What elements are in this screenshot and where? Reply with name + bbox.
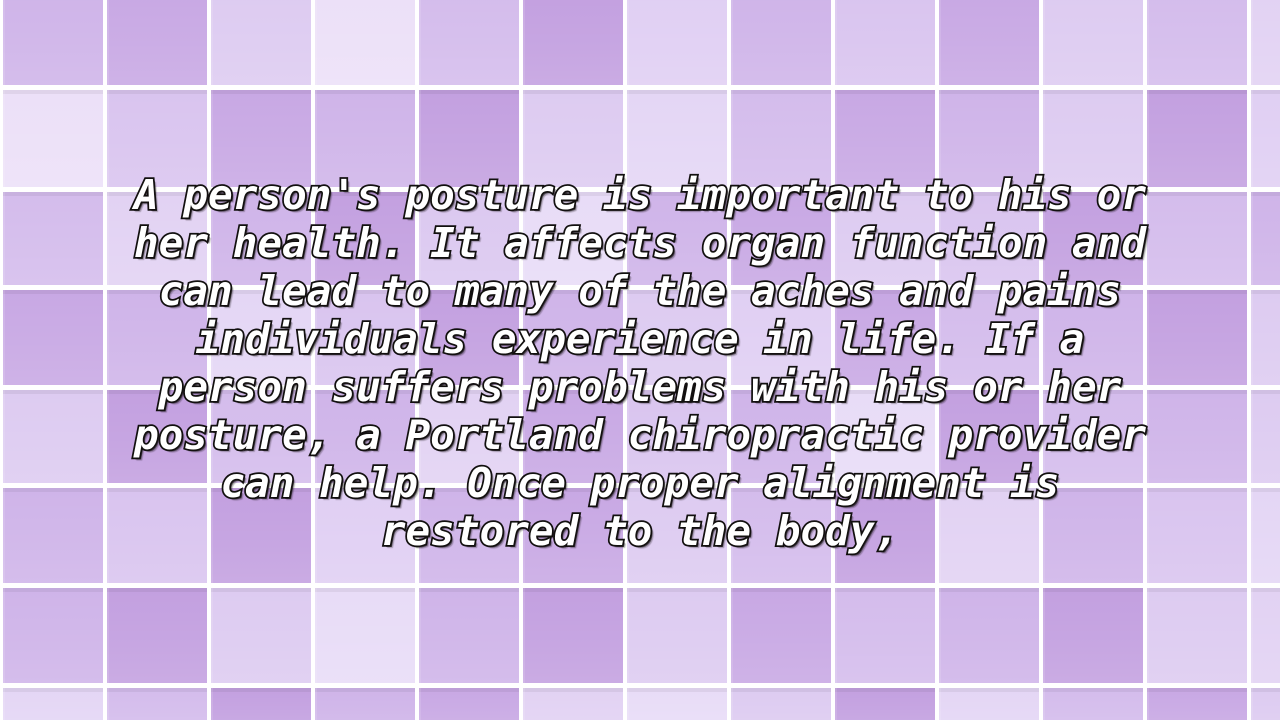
tile-gradient xyxy=(1251,588,1280,683)
tile-top-shade xyxy=(523,588,623,592)
tile-left-highlight xyxy=(1043,488,1045,583)
tile-left-highlight xyxy=(835,488,837,583)
mosaic-tile xyxy=(107,688,207,720)
tile-top-shade xyxy=(939,192,1039,196)
tile-left-highlight xyxy=(731,488,733,583)
mosaic-tile xyxy=(1251,0,1280,85)
tile-left-highlight xyxy=(835,90,837,187)
mosaic-tile xyxy=(731,488,831,583)
tile-left-highlight xyxy=(731,688,733,720)
tile-top-shade xyxy=(835,390,935,394)
tile-top-shade xyxy=(211,588,311,592)
tile-gradient xyxy=(1043,390,1143,483)
tile-gradient xyxy=(523,90,623,187)
mosaic-tile xyxy=(835,488,935,583)
tile-gradient xyxy=(523,688,623,720)
tile-gradient xyxy=(731,290,831,385)
tile-top-shade xyxy=(419,588,519,592)
mosaic-tile xyxy=(419,588,519,683)
tile-left-highlight xyxy=(627,192,629,285)
tile-left-highlight xyxy=(1251,390,1253,483)
tile-top-shade xyxy=(731,192,831,196)
tile-gradient xyxy=(1043,588,1143,683)
tile-left-highlight xyxy=(3,290,5,385)
tile-left-highlight xyxy=(627,588,629,683)
tile-gradient xyxy=(731,90,831,187)
tile-gradient xyxy=(107,192,207,285)
tile-top-shade xyxy=(523,192,623,196)
mosaic-tile xyxy=(1043,488,1143,583)
tile-gradient xyxy=(419,390,519,483)
tile-top-shade xyxy=(1043,688,1143,692)
tile-gradient xyxy=(211,290,311,385)
mosaic-tile xyxy=(3,488,103,583)
tile-gradient xyxy=(107,90,207,187)
tile-gradient xyxy=(211,192,311,285)
tile-left-highlight xyxy=(1043,192,1045,285)
tile-left-highlight xyxy=(1147,290,1149,385)
tile-top-shade xyxy=(1043,488,1143,492)
mosaic-tile xyxy=(107,390,207,483)
tile-left-highlight xyxy=(1043,390,1045,483)
tile-top-shade xyxy=(627,390,727,394)
mosaic-tile xyxy=(107,0,207,85)
tile-left-highlight xyxy=(523,688,525,720)
tile-gradient xyxy=(107,390,207,483)
mosaic-tile xyxy=(835,688,935,720)
mosaic-tile xyxy=(835,290,935,385)
tile-gradient xyxy=(939,390,1039,483)
mosaic-tile xyxy=(731,90,831,187)
tile-left-highlight xyxy=(1251,192,1253,285)
mosaic-tile xyxy=(523,688,623,720)
tile-top-shade xyxy=(1147,688,1247,692)
tile-top-shade xyxy=(1251,192,1280,196)
tile-top-shade xyxy=(107,90,207,94)
mosaic-tile xyxy=(627,588,727,683)
tile-gradient xyxy=(419,688,519,720)
tile-left-highlight xyxy=(731,90,733,187)
mosaic-tile xyxy=(1043,290,1143,385)
mosaic-tile xyxy=(627,90,727,187)
tile-top-shade xyxy=(1251,488,1280,492)
mosaic-tile xyxy=(1147,588,1247,683)
mosaic-tile xyxy=(939,488,1039,583)
mosaic-tile xyxy=(627,488,727,583)
mosaic-tile xyxy=(3,90,103,187)
tile-top-shade xyxy=(731,290,831,294)
tile-left-highlight xyxy=(1147,390,1149,483)
tile-left-highlight xyxy=(1043,588,1045,683)
tile-gradient xyxy=(731,688,831,720)
tile-top-shade xyxy=(939,290,1039,294)
tile-gradient xyxy=(1147,0,1247,85)
tile-gradient xyxy=(315,390,415,483)
mosaic-tile xyxy=(1251,290,1280,385)
tile-left-highlight xyxy=(835,0,837,85)
tile-left-highlight xyxy=(1147,488,1149,583)
tile-left-highlight xyxy=(835,290,837,385)
tile-gradient xyxy=(835,0,935,85)
tile-left-highlight xyxy=(627,688,629,720)
tile-top-shade xyxy=(627,688,727,692)
tile-top-shade xyxy=(1043,192,1143,196)
tile-left-highlight xyxy=(1251,290,1253,385)
mosaic-tile xyxy=(627,290,727,385)
tile-top-shade xyxy=(1043,90,1143,94)
tile-left-highlight xyxy=(315,90,317,187)
tile-gradient xyxy=(939,588,1039,683)
tile-gradient xyxy=(419,0,519,85)
tile-top-shade xyxy=(211,688,311,692)
tile-gradient xyxy=(1251,488,1280,583)
tile-top-shade xyxy=(3,390,103,394)
tile-left-highlight xyxy=(939,90,941,187)
mosaic-tile xyxy=(939,688,1039,720)
mosaic-tile xyxy=(315,390,415,483)
tile-left-highlight xyxy=(627,90,629,187)
mosaic-tile xyxy=(627,688,727,720)
mosaic-tile xyxy=(1147,390,1247,483)
tile-top-shade xyxy=(107,290,207,294)
mosaic-tile xyxy=(315,290,415,385)
tile-left-highlight xyxy=(419,390,421,483)
tile-gradient xyxy=(835,192,935,285)
tile-gradient xyxy=(1147,688,1247,720)
mosaic-tile xyxy=(211,90,311,187)
mosaic-tile xyxy=(1147,688,1247,720)
tile-left-highlight xyxy=(3,90,5,187)
tile-left-highlight xyxy=(3,488,5,583)
tile-left-highlight xyxy=(627,290,629,385)
mosaic-tile xyxy=(3,688,103,720)
tile-gradient xyxy=(731,192,831,285)
tile-gradient xyxy=(1147,192,1247,285)
tile-top-shade xyxy=(939,390,1039,394)
tile-left-highlight xyxy=(1043,688,1045,720)
tile-left-highlight xyxy=(1043,90,1045,187)
tile-gradient xyxy=(939,688,1039,720)
tile-left-highlight xyxy=(627,488,629,583)
tile-gradient xyxy=(211,390,311,483)
tile-left-highlight xyxy=(419,192,421,285)
tile-gradient xyxy=(1251,688,1280,720)
tile-top-shade xyxy=(419,90,519,94)
tile-gradient xyxy=(1147,90,1247,187)
tile-gradient xyxy=(523,0,623,85)
tile-top-shade xyxy=(419,390,519,394)
tile-left-highlight xyxy=(211,290,213,385)
tile-gradient xyxy=(627,90,727,187)
tile-top-shade xyxy=(315,488,415,492)
tile-top-shade xyxy=(3,192,103,196)
tile-top-shade xyxy=(211,390,311,394)
mosaic-tile xyxy=(1251,90,1280,187)
mosaic-tile xyxy=(107,90,207,187)
tile-left-highlight xyxy=(419,0,421,85)
tile-left-highlight xyxy=(211,192,213,285)
tile-left-highlight xyxy=(107,588,109,683)
tile-top-shade xyxy=(1251,688,1280,692)
tile-gradient xyxy=(419,192,519,285)
mosaic-tile xyxy=(1251,390,1280,483)
tile-gradient xyxy=(939,192,1039,285)
tile-top-shade xyxy=(3,688,103,692)
tile-left-highlight xyxy=(315,390,317,483)
tile-left-highlight xyxy=(107,192,109,285)
mosaic-tile xyxy=(939,588,1039,683)
mosaic-tile xyxy=(835,192,935,285)
mosaic-tile xyxy=(1043,688,1143,720)
tile-top-shade xyxy=(211,488,311,492)
tile-left-highlight xyxy=(939,390,941,483)
mosaic-tile xyxy=(523,588,623,683)
tile-left-highlight xyxy=(523,390,525,483)
tile-top-shade xyxy=(107,390,207,394)
mosaic-tile xyxy=(627,192,727,285)
tile-gradient xyxy=(1043,488,1143,583)
tile-gradient xyxy=(107,688,207,720)
tile-gradient xyxy=(3,0,103,85)
tile-top-shade xyxy=(107,588,207,592)
tile-top-shade xyxy=(107,192,207,196)
tile-top-shade xyxy=(1251,90,1280,94)
tile-left-highlight xyxy=(939,192,941,285)
tile-gradient xyxy=(3,192,103,285)
tile-gradient xyxy=(731,0,831,85)
tile-gradient xyxy=(1251,290,1280,385)
tile-top-shade xyxy=(523,290,623,294)
tile-gradient xyxy=(523,192,623,285)
tile-top-shade xyxy=(315,688,415,692)
tile-top-shade xyxy=(939,688,1039,692)
tile-gradient xyxy=(627,0,727,85)
tile-top-shade xyxy=(1147,390,1247,394)
tile-left-highlight xyxy=(731,0,733,85)
mosaic-tile xyxy=(3,588,103,683)
tile-gradient xyxy=(523,588,623,683)
tile-top-shade xyxy=(627,90,727,94)
tile-top-shade xyxy=(3,488,103,492)
tile-gradient xyxy=(315,688,415,720)
tile-top-shade xyxy=(3,588,103,592)
tile-left-highlight xyxy=(939,488,941,583)
tile-gradient xyxy=(523,290,623,385)
tile-gradient xyxy=(1251,390,1280,483)
tile-gradient xyxy=(315,192,415,285)
tile-left-highlight xyxy=(1251,90,1253,187)
tile-top-shade xyxy=(211,192,311,196)
tile-left-highlight xyxy=(3,0,5,85)
tile-left-highlight xyxy=(1043,0,1045,85)
tile-gradient xyxy=(523,390,623,483)
tile-left-highlight xyxy=(1251,588,1253,683)
mosaic-tile xyxy=(315,0,415,85)
tile-gradient xyxy=(835,390,935,483)
tile-top-shade xyxy=(107,688,207,692)
tile-gradient xyxy=(731,588,831,683)
tile-gradient xyxy=(627,588,727,683)
tile-left-highlight xyxy=(523,588,525,683)
mosaic-tile xyxy=(731,390,831,483)
tile-top-shade xyxy=(1043,390,1143,394)
tile-left-highlight xyxy=(1043,290,1045,385)
tile-left-highlight xyxy=(523,290,525,385)
tile-top-shade xyxy=(211,90,311,94)
tile-left-highlight xyxy=(419,688,421,720)
image-canvas: A person's posture is important to his o… xyxy=(0,0,1280,720)
tile-gradient xyxy=(1251,192,1280,285)
mosaic-tile xyxy=(211,488,311,583)
tile-left-highlight xyxy=(107,90,109,187)
mosaic-tile xyxy=(211,390,311,483)
tile-left-highlight xyxy=(315,488,317,583)
mosaic-tile xyxy=(939,290,1039,385)
tile-gradient xyxy=(835,90,935,187)
tile-gradient xyxy=(315,588,415,683)
tile-gradient xyxy=(627,688,727,720)
tile-gradient xyxy=(419,588,519,683)
tile-gradient xyxy=(107,0,207,85)
tile-top-shade xyxy=(419,688,519,692)
tile-top-shade xyxy=(731,390,831,394)
tile-left-highlight xyxy=(211,588,213,683)
tile-gradient xyxy=(315,90,415,187)
tile-top-shade xyxy=(315,192,415,196)
tile-gradient xyxy=(835,588,935,683)
tile-top-shade xyxy=(627,488,727,492)
tile-top-shade xyxy=(1043,588,1143,592)
mosaic-tile xyxy=(419,192,519,285)
mosaic-tile xyxy=(1147,192,1247,285)
tile-left-highlight xyxy=(211,488,213,583)
mosaic-tile xyxy=(731,0,831,85)
tile-gradient xyxy=(315,0,415,85)
mosaic-tile xyxy=(211,290,311,385)
tile-left-highlight xyxy=(523,90,525,187)
mosaic-tile xyxy=(211,688,311,720)
tile-gradient xyxy=(419,90,519,187)
mosaic-tile xyxy=(419,688,519,720)
mosaic-tile xyxy=(835,588,935,683)
mosaic-tile xyxy=(1147,290,1247,385)
tile-top-shade xyxy=(1147,588,1247,592)
tile-left-highlight xyxy=(1147,588,1149,683)
tile-left-highlight xyxy=(315,588,317,683)
tile-left-highlight xyxy=(315,290,317,385)
mosaic-tile xyxy=(523,488,623,583)
tile-gradient xyxy=(211,588,311,683)
tile-top-shade xyxy=(1147,90,1247,94)
tile-top-shade xyxy=(835,688,935,692)
mosaic-tile xyxy=(1043,588,1143,683)
tile-left-highlight xyxy=(211,0,213,85)
mosaic-tile xyxy=(1251,588,1280,683)
mosaic-tile xyxy=(3,390,103,483)
mosaic-tile xyxy=(1147,90,1247,187)
tile-left-highlight xyxy=(315,192,317,285)
mosaic-tile xyxy=(211,588,311,683)
tile-top-shade xyxy=(523,90,623,94)
tile-gradient xyxy=(939,290,1039,385)
tile-gradient xyxy=(211,90,311,187)
tile-top-shade xyxy=(315,390,415,394)
mosaic-tile xyxy=(939,90,1039,187)
mosaic-tile xyxy=(211,0,311,85)
tile-top-shade xyxy=(3,290,103,294)
tile-left-highlight xyxy=(3,688,5,720)
tile-gradient xyxy=(107,488,207,583)
tile-top-shade xyxy=(835,90,935,94)
mosaic-tile xyxy=(939,192,1039,285)
mosaic-tile xyxy=(315,688,415,720)
mosaic-tile xyxy=(419,0,519,85)
tile-gradient xyxy=(1043,688,1143,720)
mosaic-tile xyxy=(1147,488,1247,583)
tile-top-shade xyxy=(939,588,1039,592)
tile-top-shade xyxy=(523,390,623,394)
tile-left-highlight xyxy=(835,588,837,683)
tile-top-shade xyxy=(731,588,831,592)
tile-gradient xyxy=(1043,192,1143,285)
mosaic-tile xyxy=(1251,488,1280,583)
mosaic-tile xyxy=(523,90,623,187)
tile-left-highlight xyxy=(107,688,109,720)
mosaic-tile xyxy=(419,90,519,187)
tile-left-highlight xyxy=(1147,90,1149,187)
mosaic-tile xyxy=(1251,688,1280,720)
tile-left-highlight xyxy=(107,290,109,385)
tile-gradient xyxy=(211,488,311,583)
mosaic-tile xyxy=(315,90,415,187)
mosaic-tile xyxy=(731,290,831,385)
tile-top-shade xyxy=(835,192,935,196)
mosaic-tile xyxy=(1043,0,1143,85)
tile-gradient xyxy=(315,488,415,583)
tile-mosaic-background xyxy=(0,0,1280,720)
tile-gradient xyxy=(1251,0,1280,85)
mosaic-tile xyxy=(315,588,415,683)
mosaic-tile xyxy=(627,0,727,85)
tile-gradient xyxy=(731,390,831,483)
tile-top-shade xyxy=(835,290,935,294)
tile-top-shade xyxy=(523,688,623,692)
mosaic-tile xyxy=(419,290,519,385)
tile-top-shade xyxy=(627,192,727,196)
tile-left-highlight xyxy=(939,688,941,720)
mosaic-tile xyxy=(835,390,935,483)
tile-left-highlight xyxy=(835,192,837,285)
tile-gradient xyxy=(3,290,103,385)
mosaic-tile xyxy=(315,192,415,285)
tile-gradient xyxy=(835,688,935,720)
mosaic-tile xyxy=(3,290,103,385)
tile-gradient xyxy=(419,290,519,385)
tile-top-shade xyxy=(731,90,831,94)
tile-top-shade xyxy=(731,488,831,492)
tile-gradient xyxy=(731,488,831,583)
tile-left-highlight xyxy=(1251,688,1253,720)
tile-top-shade xyxy=(1251,290,1280,294)
mosaic-tile xyxy=(523,0,623,85)
mosaic-tile xyxy=(731,688,831,720)
tile-gradient xyxy=(523,488,623,583)
mosaic-tile xyxy=(627,390,727,483)
mosaic-tile xyxy=(939,390,1039,483)
mosaic-tile xyxy=(523,192,623,285)
tile-gradient xyxy=(107,290,207,385)
mosaic-tile xyxy=(1147,0,1247,85)
